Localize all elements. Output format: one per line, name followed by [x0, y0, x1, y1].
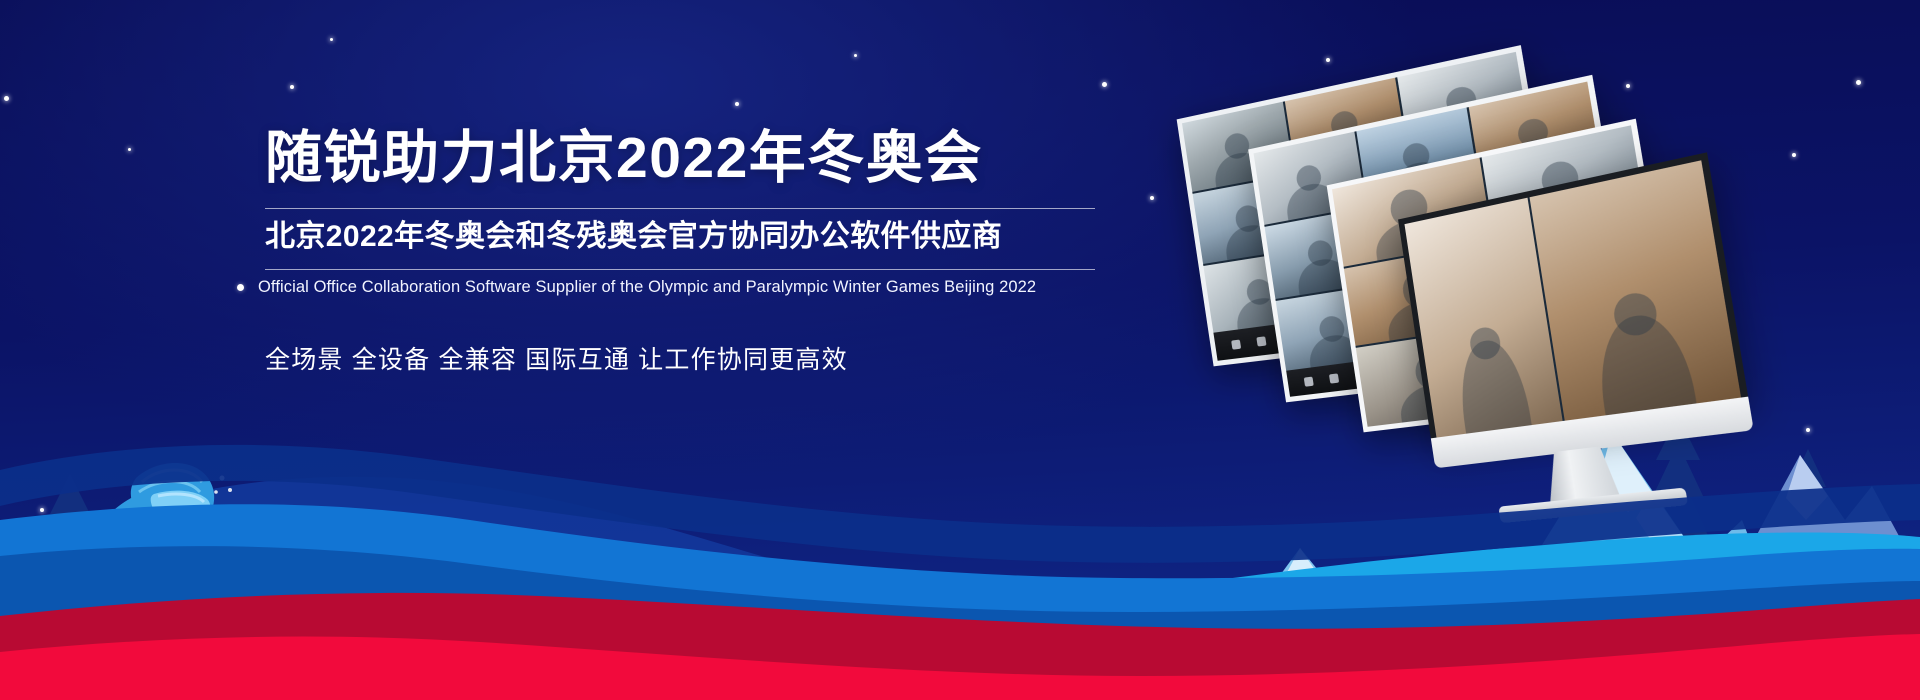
video-conference-screen-stack: 结束会议 结束会议: [1195, 105, 1755, 585]
star-dot-icon: [735, 102, 739, 106]
star-dot-icon: [1102, 82, 1107, 87]
star-dot-icon: [128, 148, 131, 151]
star-dot-icon: [1326, 58, 1330, 62]
mic-icon[interactable]: [1231, 339, 1241, 349]
camera-icon[interactable]: [1256, 336, 1266, 346]
star-dot-icon: [330, 38, 333, 41]
participant-tile-main: [1530, 160, 1743, 427]
subtitle-english: Official Office Collaboration Software S…: [258, 278, 1036, 297]
star-dot-icon: [290, 85, 294, 89]
mic-icon[interactable]: [1303, 376, 1313, 386]
star-dot-icon: [1792, 153, 1796, 157]
tagline: 全场景 全设备 全兼容 国际互通 让工作协同更高效: [265, 340, 1095, 376]
banner-copy-block: 随锐助力北京2022年冬奥会 北京2022年冬奥会和冬残奥会官方协同办公软件供应…: [265, 128, 1095, 376]
promo-banner: 结束会议 结束会议: [0, 0, 1920, 700]
subtitle-english-row: Official Office Collaboration Software S…: [237, 278, 1095, 297]
alpine-skier-icon: [8, 430, 308, 700]
star-dot-icon: [854, 54, 857, 57]
subtitle-chinese: 北京2022年冬奥会和冬残奥会官方协同办公软件供应商: [265, 209, 1095, 260]
star-dot-icon: [1626, 84, 1630, 88]
star-dot-icon: [1806, 428, 1810, 432]
star-dot-icon: [1856, 80, 1861, 85]
star-dot-icon: [4, 96, 9, 101]
star-dot-icon: [1150, 196, 1154, 200]
divider-bottom: [265, 269, 1095, 270]
page-title: 随锐助力北京2022年冬奥会: [265, 128, 1095, 188]
bullet-dot-icon: [237, 284, 244, 291]
camera-icon[interactable]: [1329, 373, 1339, 383]
